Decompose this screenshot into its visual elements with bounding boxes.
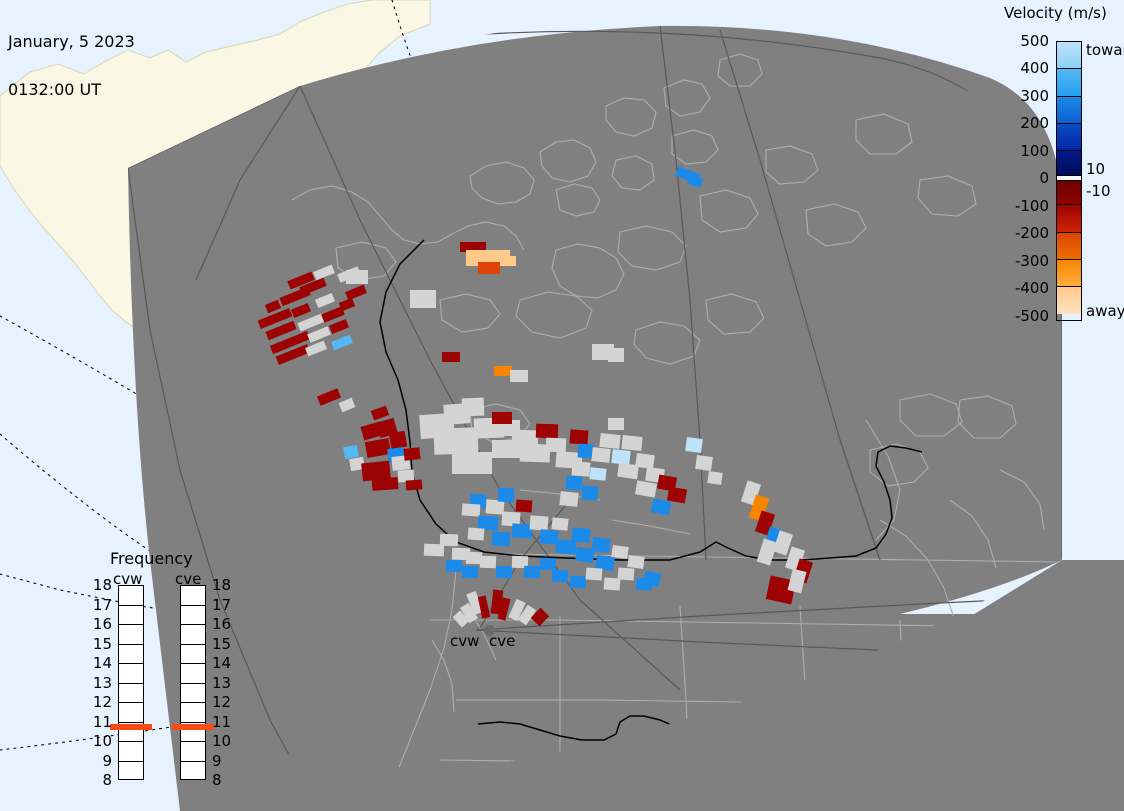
velocity-cell xyxy=(317,388,341,406)
velocity-cell xyxy=(570,575,587,588)
velocity-cell xyxy=(315,293,335,308)
velocity-cell xyxy=(570,429,589,444)
velocity-cell xyxy=(685,437,703,453)
colorbar-tick-label: 0 xyxy=(1005,169,1049,187)
velocity-cell xyxy=(540,558,556,571)
colorbar-segment xyxy=(1057,69,1081,96)
frequency-tick-label: 11 xyxy=(90,713,112,731)
velocity-cell xyxy=(442,352,460,362)
frequency-gridline xyxy=(181,741,205,742)
superdarn-fanplot: January, 5 2023 0132:00 UT cvw cve Veloc… xyxy=(0,0,1124,811)
velocity-cell xyxy=(403,447,420,461)
frequency-gridline xyxy=(181,722,205,723)
frequency-tick-label: 12 xyxy=(212,693,231,711)
frequency-tick-label: 15 xyxy=(90,635,112,653)
colorbar-toward-label: toward xyxy=(1086,41,1124,59)
frequency-gridline xyxy=(181,702,205,703)
colorbar-segment xyxy=(1057,151,1081,176)
frequency-gridline xyxy=(181,624,205,625)
velocity-cell xyxy=(468,527,485,540)
frequency-tick-label: 10 xyxy=(90,732,112,750)
velocity-cell xyxy=(565,475,582,491)
velocity-cell xyxy=(510,370,528,382)
velocity-cell xyxy=(446,560,462,573)
colorbar-tick-label: 500 xyxy=(1005,32,1049,50)
velocity-cell xyxy=(346,270,368,284)
velocity-cell xyxy=(307,326,331,343)
frequency-scale-cvw xyxy=(118,585,144,780)
velocity-cell xyxy=(462,566,478,579)
colorbar-segment xyxy=(1057,124,1081,151)
velocity-cell xyxy=(611,545,629,559)
velocity-cell xyxy=(516,499,533,512)
frequency-title: Frequency xyxy=(110,549,193,568)
frequency-gridline xyxy=(181,605,205,606)
velocity-cell xyxy=(572,461,591,476)
colorbar-threshold-low: -10 xyxy=(1086,182,1111,200)
velocity-cell xyxy=(608,348,624,362)
velocity-cell xyxy=(788,569,807,594)
velocity-cell xyxy=(389,431,408,450)
velocity-cell xyxy=(608,418,624,430)
colorbar-tick-label: 300 xyxy=(1005,87,1049,105)
frequency-gridline xyxy=(119,722,143,723)
colorbar-tick-label: 100 xyxy=(1005,142,1049,160)
velocity-colorbar: Velocity (m/s) 5004003002001000-100-200-… xyxy=(975,0,1124,340)
frequency-gridline xyxy=(119,761,143,762)
colorbar-segment xyxy=(1057,233,1081,260)
frequency-scale-cve xyxy=(180,585,206,780)
frequency-tick-label: 11 xyxy=(212,713,231,731)
velocity-cell xyxy=(371,406,389,421)
velocity-cell xyxy=(636,577,653,590)
velocity-cell xyxy=(707,471,723,485)
colorbar-tick-label: 200 xyxy=(1005,114,1049,132)
frequency-gridline xyxy=(119,663,143,664)
frequency-gridline xyxy=(181,761,205,762)
velocity-cell xyxy=(618,567,635,580)
velocity-cell xyxy=(372,477,399,491)
frequency-tick-label: 9 xyxy=(90,752,112,770)
velocity-cell xyxy=(530,515,549,530)
frequency-gridline xyxy=(119,644,143,645)
velocity-cell xyxy=(555,539,576,555)
velocity-cell xyxy=(524,566,540,579)
velocity-cell xyxy=(536,424,558,439)
colorbar-tick-label: -300 xyxy=(1005,252,1049,270)
frequency-gridline xyxy=(181,683,205,684)
frequency-tick-label: 13 xyxy=(90,674,112,692)
velocity-cell xyxy=(329,319,349,334)
velocity-cell xyxy=(581,485,598,501)
colorbar-gradient xyxy=(1056,41,1082,321)
frequency-tick-label: 9 xyxy=(212,752,222,770)
velocity-cell xyxy=(651,498,672,515)
frequency-gridline xyxy=(119,741,143,742)
velocity-cell xyxy=(586,567,603,580)
velocity-cell xyxy=(599,433,620,449)
velocity-cell xyxy=(589,467,606,481)
velocity-cell xyxy=(496,566,512,579)
site-label-cvw: cvw xyxy=(450,634,479,649)
frequency-tick-label: 17 xyxy=(212,596,231,614)
frequency-marker-cve xyxy=(172,724,214,730)
frequency-gridline xyxy=(119,605,143,606)
velocity-cell xyxy=(406,479,423,490)
frequency-tick-label: 18 xyxy=(90,576,112,594)
site-label-cve: cve xyxy=(489,634,515,649)
colorbar-threshold-high: 10 xyxy=(1086,160,1105,178)
frequency-gridline xyxy=(119,702,143,703)
frequency-tick-label: 10 xyxy=(212,732,231,750)
velocity-cell xyxy=(492,531,511,546)
frequency-tick-label: 17 xyxy=(90,596,112,614)
velocity-cell xyxy=(551,517,568,531)
frequency-legend: Frequency cvw18171615141312111098cve1817… xyxy=(0,0,260,811)
velocity-cell xyxy=(591,447,610,463)
velocity-cell xyxy=(695,455,713,471)
frequency-tick-label: 13 xyxy=(212,674,231,692)
colorbar-away-label: away xyxy=(1086,302,1124,320)
colorbar-segment xyxy=(1057,205,1081,232)
velocity-cell xyxy=(291,303,311,318)
colorbar-segment xyxy=(1057,287,1081,314)
velocity-cell xyxy=(635,480,657,497)
velocity-cell xyxy=(687,174,704,188)
colorbar-segment xyxy=(1057,97,1081,124)
frequency-tick-label: 16 xyxy=(212,615,231,633)
velocity-cell xyxy=(591,537,611,553)
colorbar-tick-label: -200 xyxy=(1005,224,1049,242)
velocity-cell xyxy=(410,290,436,308)
velocity-cell xyxy=(478,262,500,274)
velocity-cell xyxy=(627,555,645,569)
frequency-gridline xyxy=(119,683,143,684)
frequency-tick-label: 14 xyxy=(212,654,231,672)
colorbar-segment xyxy=(1057,181,1081,206)
velocity-cell xyxy=(621,435,642,451)
velocity-cell xyxy=(462,398,485,417)
frequency-gridline xyxy=(181,663,205,664)
frequency-tick-label: 8 xyxy=(90,771,112,789)
frequency-tick-label: 14 xyxy=(90,654,112,672)
velocity-cell xyxy=(492,412,512,424)
frequency-marker-cvw xyxy=(110,724,152,730)
frequency-gridline xyxy=(119,624,143,625)
colorbar-tick-label: -100 xyxy=(1005,197,1049,215)
velocity-cell xyxy=(559,491,578,507)
frequency-tick-label: 18 xyxy=(212,576,231,594)
velocity-cell xyxy=(552,570,568,583)
colorbar-title: Velocity (m/s) xyxy=(1004,4,1107,22)
velocity-cell xyxy=(452,452,492,474)
velocity-cell xyxy=(339,398,356,413)
frequency-tick-label: 16 xyxy=(90,615,112,633)
colorbar-tick-label: -500 xyxy=(1005,307,1049,325)
velocity-cell xyxy=(571,527,590,543)
velocity-cell xyxy=(440,534,458,547)
velocity-cell xyxy=(305,341,327,357)
colorbar-segment xyxy=(1057,42,1081,69)
frequency-gridline xyxy=(181,644,205,645)
velocity-cell xyxy=(480,556,496,569)
velocity-cell xyxy=(339,298,355,312)
colorbar-segment xyxy=(1057,260,1081,287)
velocity-cell xyxy=(498,487,515,502)
velocity-cell xyxy=(434,427,479,455)
colorbar-tick-label: 400 xyxy=(1005,59,1049,77)
colorbar-tick-label: -400 xyxy=(1005,279,1049,297)
velocity-cell xyxy=(331,335,353,351)
frequency-tick-label: 12 xyxy=(90,693,112,711)
frequency-tick-label: 8 xyxy=(212,771,222,789)
velocity-cell xyxy=(478,595,490,618)
frequency-tick-label: 15 xyxy=(212,635,231,653)
